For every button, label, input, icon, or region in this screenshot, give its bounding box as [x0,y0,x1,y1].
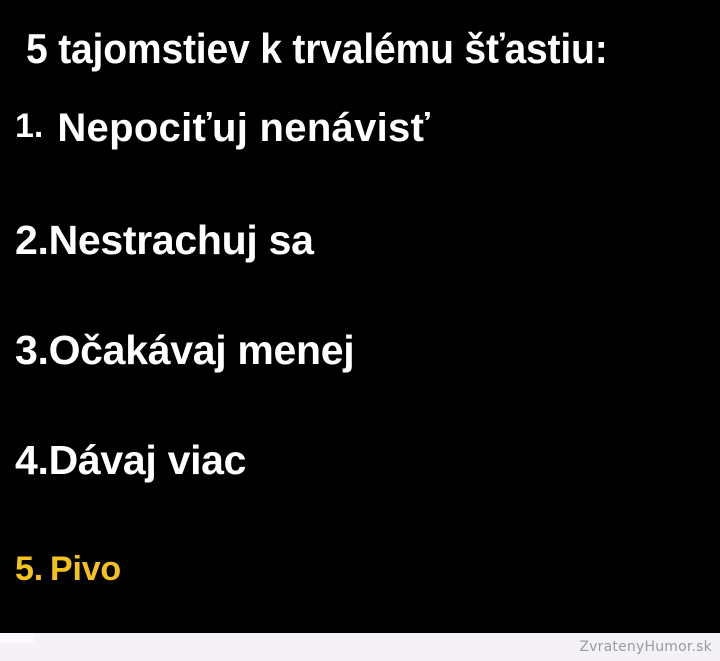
list-item-label: Nestrachuj sa [49,218,314,262]
meme-image: 5 tajomstiev k trvalému šťastiu: 1. Nepo… [0,0,720,661]
list-item-label: Dávaj viac [49,438,247,482]
watermark-bar-highlight [0,633,34,643]
watermark-text: ZvratenyHumor.sk [579,639,712,655]
list-item: 2. Nestrachuj sa [15,218,314,262]
list-item-number: 1. [15,104,43,148]
list-item-number: 3. [15,328,49,372]
list-item-label: Pivo [50,550,121,588]
list-item-number: 2. [15,218,49,262]
list-item-number: 5. [15,550,43,588]
list-item-label: Očakávaj menej [49,328,355,372]
list-item-label: Nepociťuj nenávisť [57,106,430,150]
meme-title: 5 tajomstiev k trvalému šťastiu: [26,26,645,72]
list-item-highlighted: 5. Pivo [15,550,121,588]
list-item: 3. Očakávaj menej [15,328,354,372]
list-item-number: 4. [15,438,49,482]
list-item: 4. Dávaj viac [15,438,246,482]
watermark-bar: ZvratenyHumor.sk [0,633,720,661]
list-item: 1. Nepociťuj nenávisť [15,106,430,152]
